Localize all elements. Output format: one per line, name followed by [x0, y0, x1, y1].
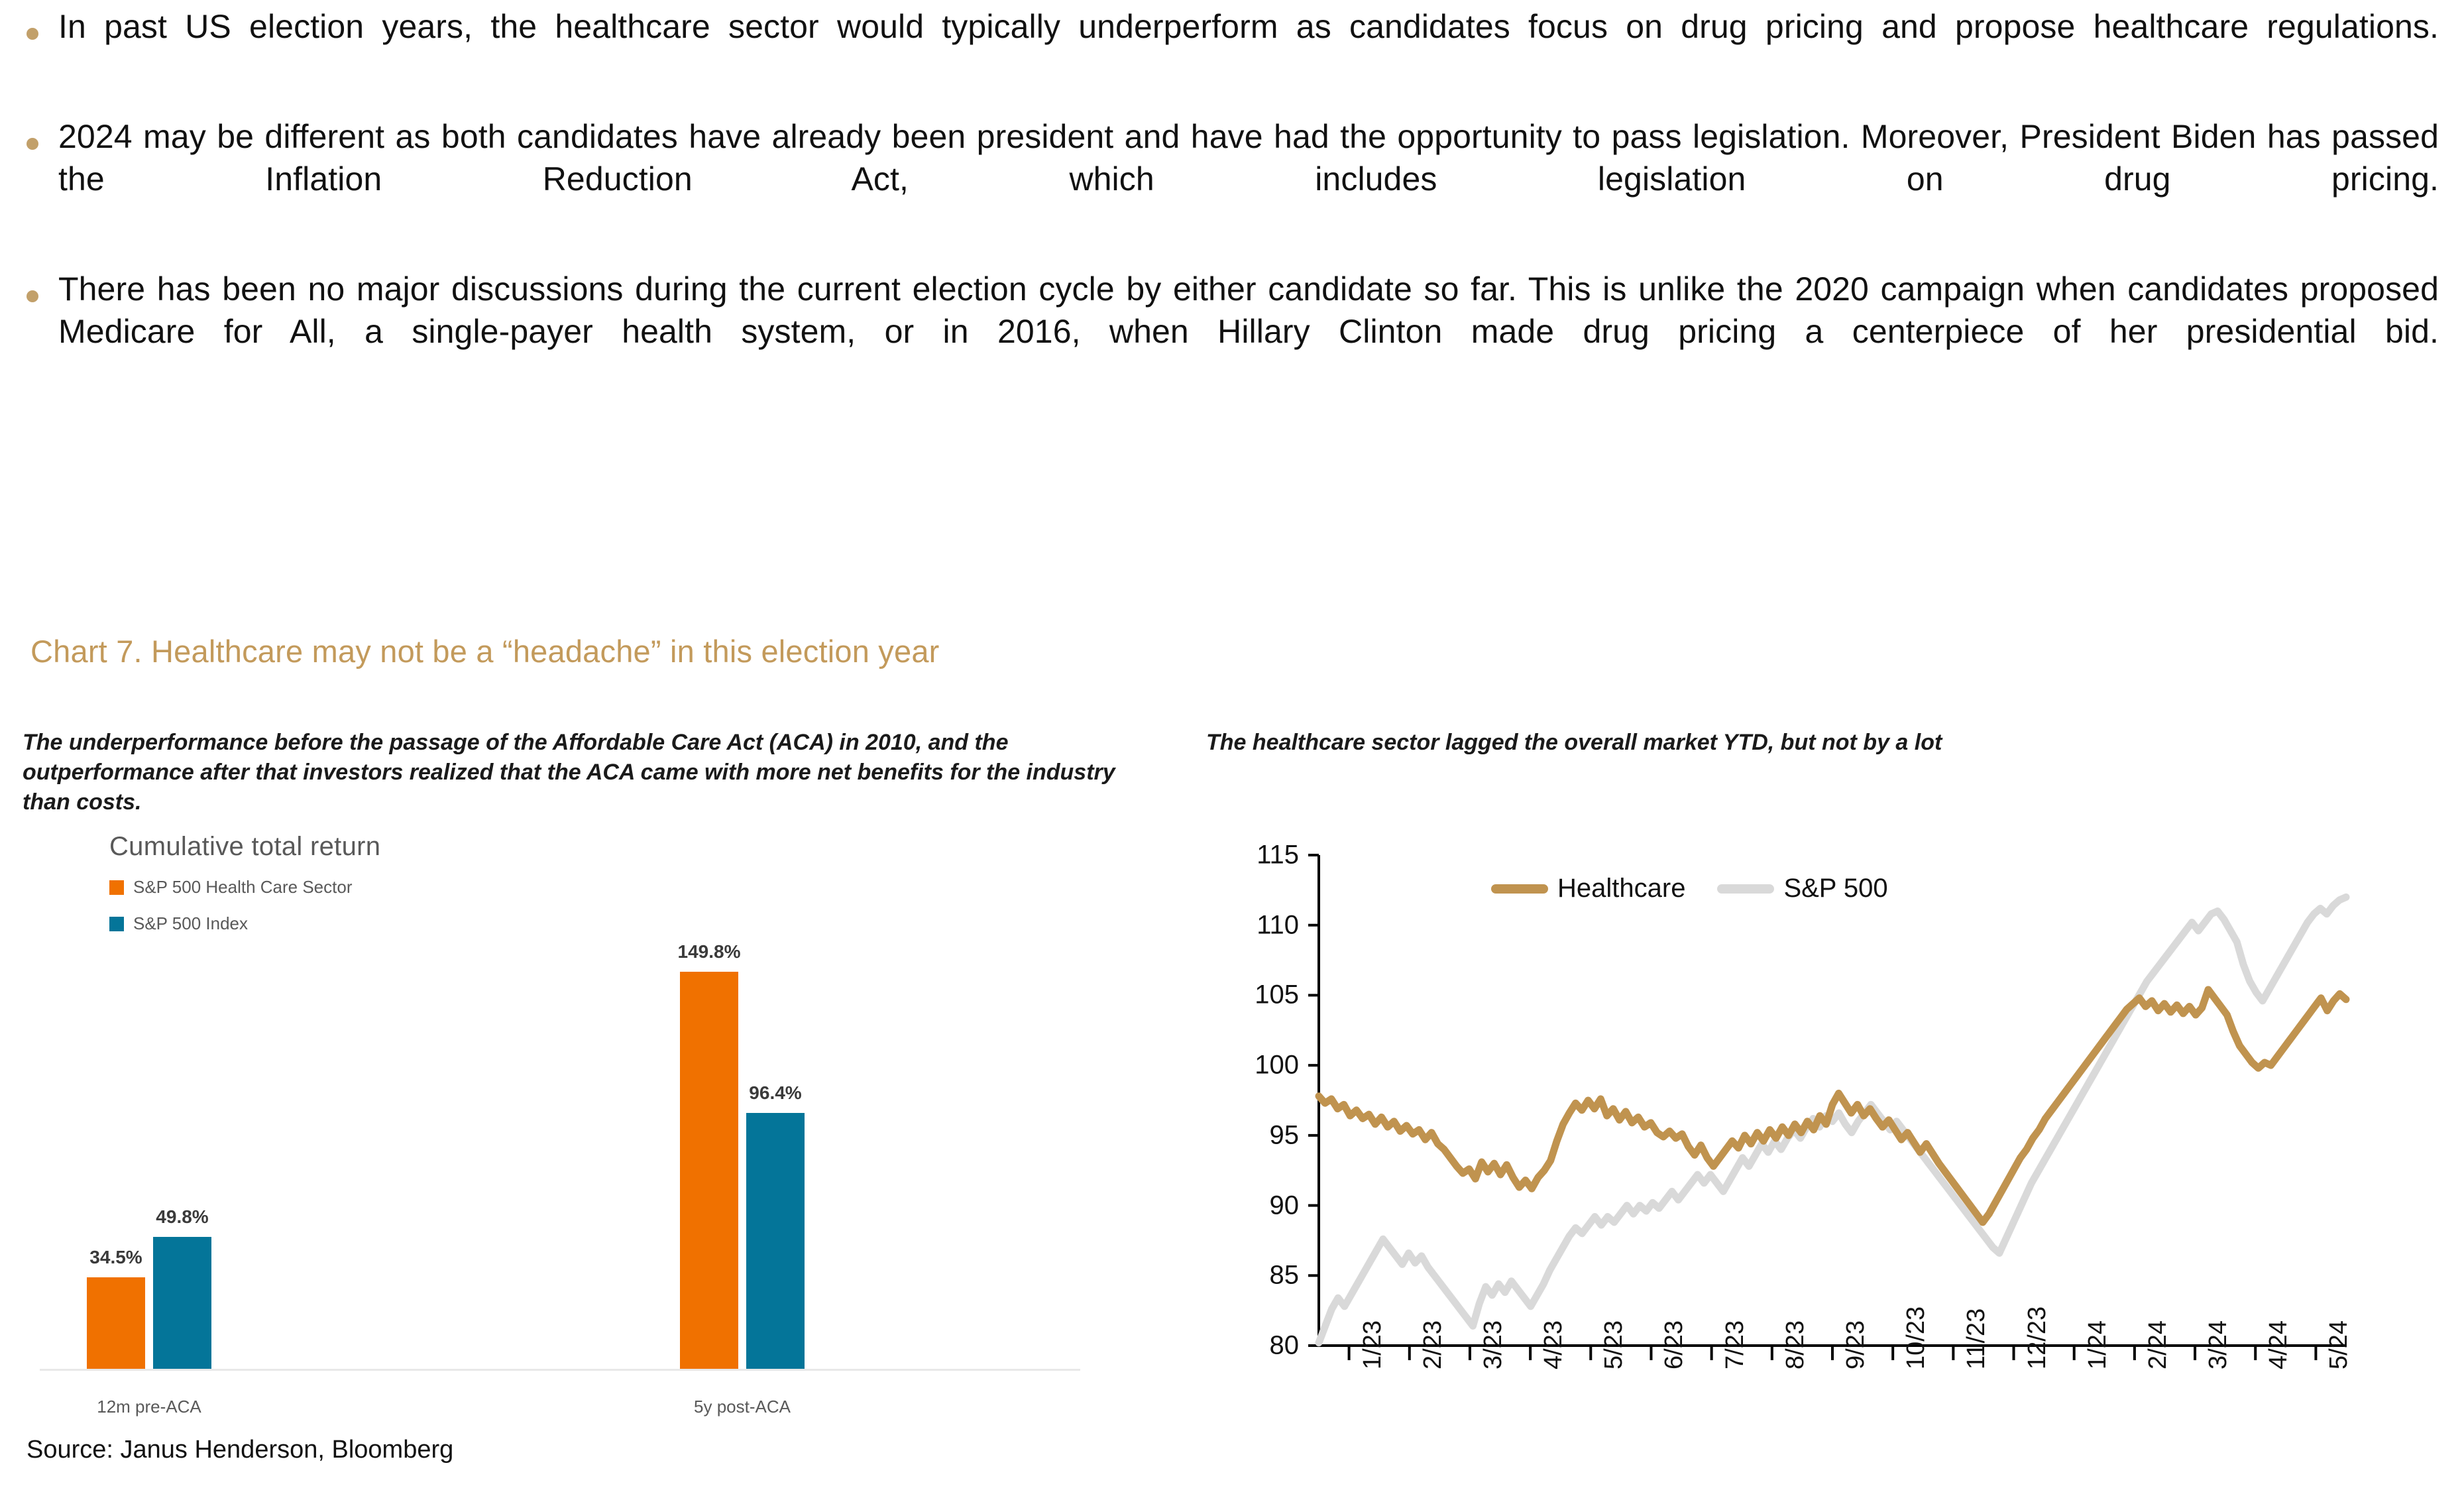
line-chart: Healthcare S&P 500 808590951001051101151…	[1166, 815, 2426, 1478]
line-chart-legend: Healthcare S&P 500	[1491, 874, 1920, 903]
x-axis-label: 5/24	[2325, 1320, 2353, 1369]
bullet-text: 2024 may be different as both candidates…	[58, 115, 2439, 243]
bar-category-label: 12m pre-ACA	[97, 1397, 201, 1417]
chart-section-title: Chart 7. Healthcare may not be a “headac…	[30, 633, 940, 669]
x-axis-label: 2/23	[1419, 1320, 1447, 1369]
x-axis-label: 4/23	[1540, 1320, 1568, 1369]
legend-line-icon	[1717, 884, 1774, 894]
list-item: 2024 may be different as both candidates…	[27, 115, 2439, 243]
y-axis-label: 110	[1219, 910, 1299, 940]
bullet-dot-icon	[27, 138, 38, 150]
list-item: In past US election years, the healthcar…	[27, 5, 2439, 90]
legend-line-icon	[1491, 884, 1548, 894]
y-axis-label: 115	[1219, 841, 1299, 870]
bar	[746, 1113, 805, 1369]
x-axis-label: 2/24	[2144, 1320, 2172, 1369]
y-axis-label: 95	[1219, 1120, 1299, 1150]
bar-value-label: 34.5%	[89, 1247, 142, 1268]
x-axis-label: 9/23	[1842, 1320, 1870, 1369]
x-axis-label: 4/24	[2265, 1320, 2293, 1369]
y-axis-label: 80	[1219, 1331, 1299, 1361]
bar-value-label: 149.8%	[678, 941, 741, 962]
y-axis-label: 85	[1219, 1261, 1299, 1291]
x-axis-label: 11/23	[1962, 1308, 1991, 1369]
list-item: There has been no major discussions duri…	[27, 268, 2439, 395]
right-chart-caption: The healthcare sector lagged the overall…	[1206, 728, 2373, 758]
x-axis-label: 8/23	[1781, 1320, 1810, 1369]
x-axis-label: 3/23	[1479, 1320, 1508, 1369]
bullet-text: There has been no major discussions duri…	[58, 268, 2439, 395]
bar-chart: Cumulative total return S&P 500 Health C…	[0, 832, 1127, 1395]
bar-baseline	[40, 1369, 1080, 1371]
x-axis-label: 7/23	[1721, 1320, 1750, 1369]
y-axis-label: 105	[1219, 980, 1299, 1010]
x-axis-label: 10/23	[1902, 1306, 1931, 1369]
x-axis-label: 5/23	[1600, 1320, 1628, 1369]
x-axis-label: 1/24	[2084, 1320, 2112, 1369]
source-note: Source: Janus Henderson, Bloomberg	[27, 1436, 453, 1464]
bullet-list: In past US election years, the healthcar…	[27, 5, 2439, 420]
legend-item: S&P 500	[1717, 874, 1887, 903]
bar-value-label: 49.8%	[156, 1206, 208, 1228]
x-axis-label: 12/23	[2023, 1306, 2052, 1369]
bar	[87, 1277, 145, 1369]
line-series-healthcare	[1319, 990, 2346, 1222]
x-axis-label: 1/23	[1359, 1320, 1387, 1369]
bar	[680, 972, 738, 1369]
x-axis-label: 3/24	[2204, 1320, 2233, 1369]
bar-value-label: 96.4%	[749, 1082, 801, 1104]
y-axis-label: 90	[1219, 1190, 1299, 1220]
legend-label: Healthcare	[1557, 874, 1685, 903]
bar	[153, 1237, 211, 1369]
x-axis-label: 6/23	[1660, 1320, 1689, 1369]
bar-category-label: 5y post-ACA	[694, 1397, 791, 1417]
line-plot-area	[1166, 815, 2426, 1478]
left-chart-caption: The underperformance before the passage …	[23, 728, 1123, 818]
line-series-s-p-500	[1319, 897, 2346, 1342]
bar-plot-area: 34.5%49.8%12m pre-ACA149.8%96.4%5y post-…	[0, 832, 1127, 1395]
bullet-dot-icon	[27, 290, 38, 302]
y-axis-label: 100	[1219, 1051, 1299, 1080]
legend-label: S&P 500	[1783, 874, 1887, 903]
bullet-text: In past US election years, the healthcar…	[58, 5, 2439, 90]
legend-item: Healthcare	[1491, 874, 1685, 903]
bullet-dot-icon	[27, 28, 38, 40]
